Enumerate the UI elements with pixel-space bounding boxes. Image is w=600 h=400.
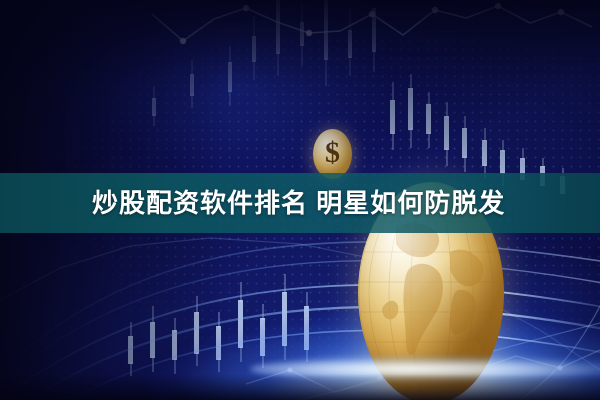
title-band: 炒股配资软件排名 明星如何防脱发: [0, 173, 600, 233]
bottom-fade-overlay: [0, 374, 600, 400]
banner-image: $ 炒股配资软件排名 明星如何防脱发: [0, 0, 600, 400]
page-title: 炒股配资软件排名 明星如何防脱发: [92, 190, 505, 216]
